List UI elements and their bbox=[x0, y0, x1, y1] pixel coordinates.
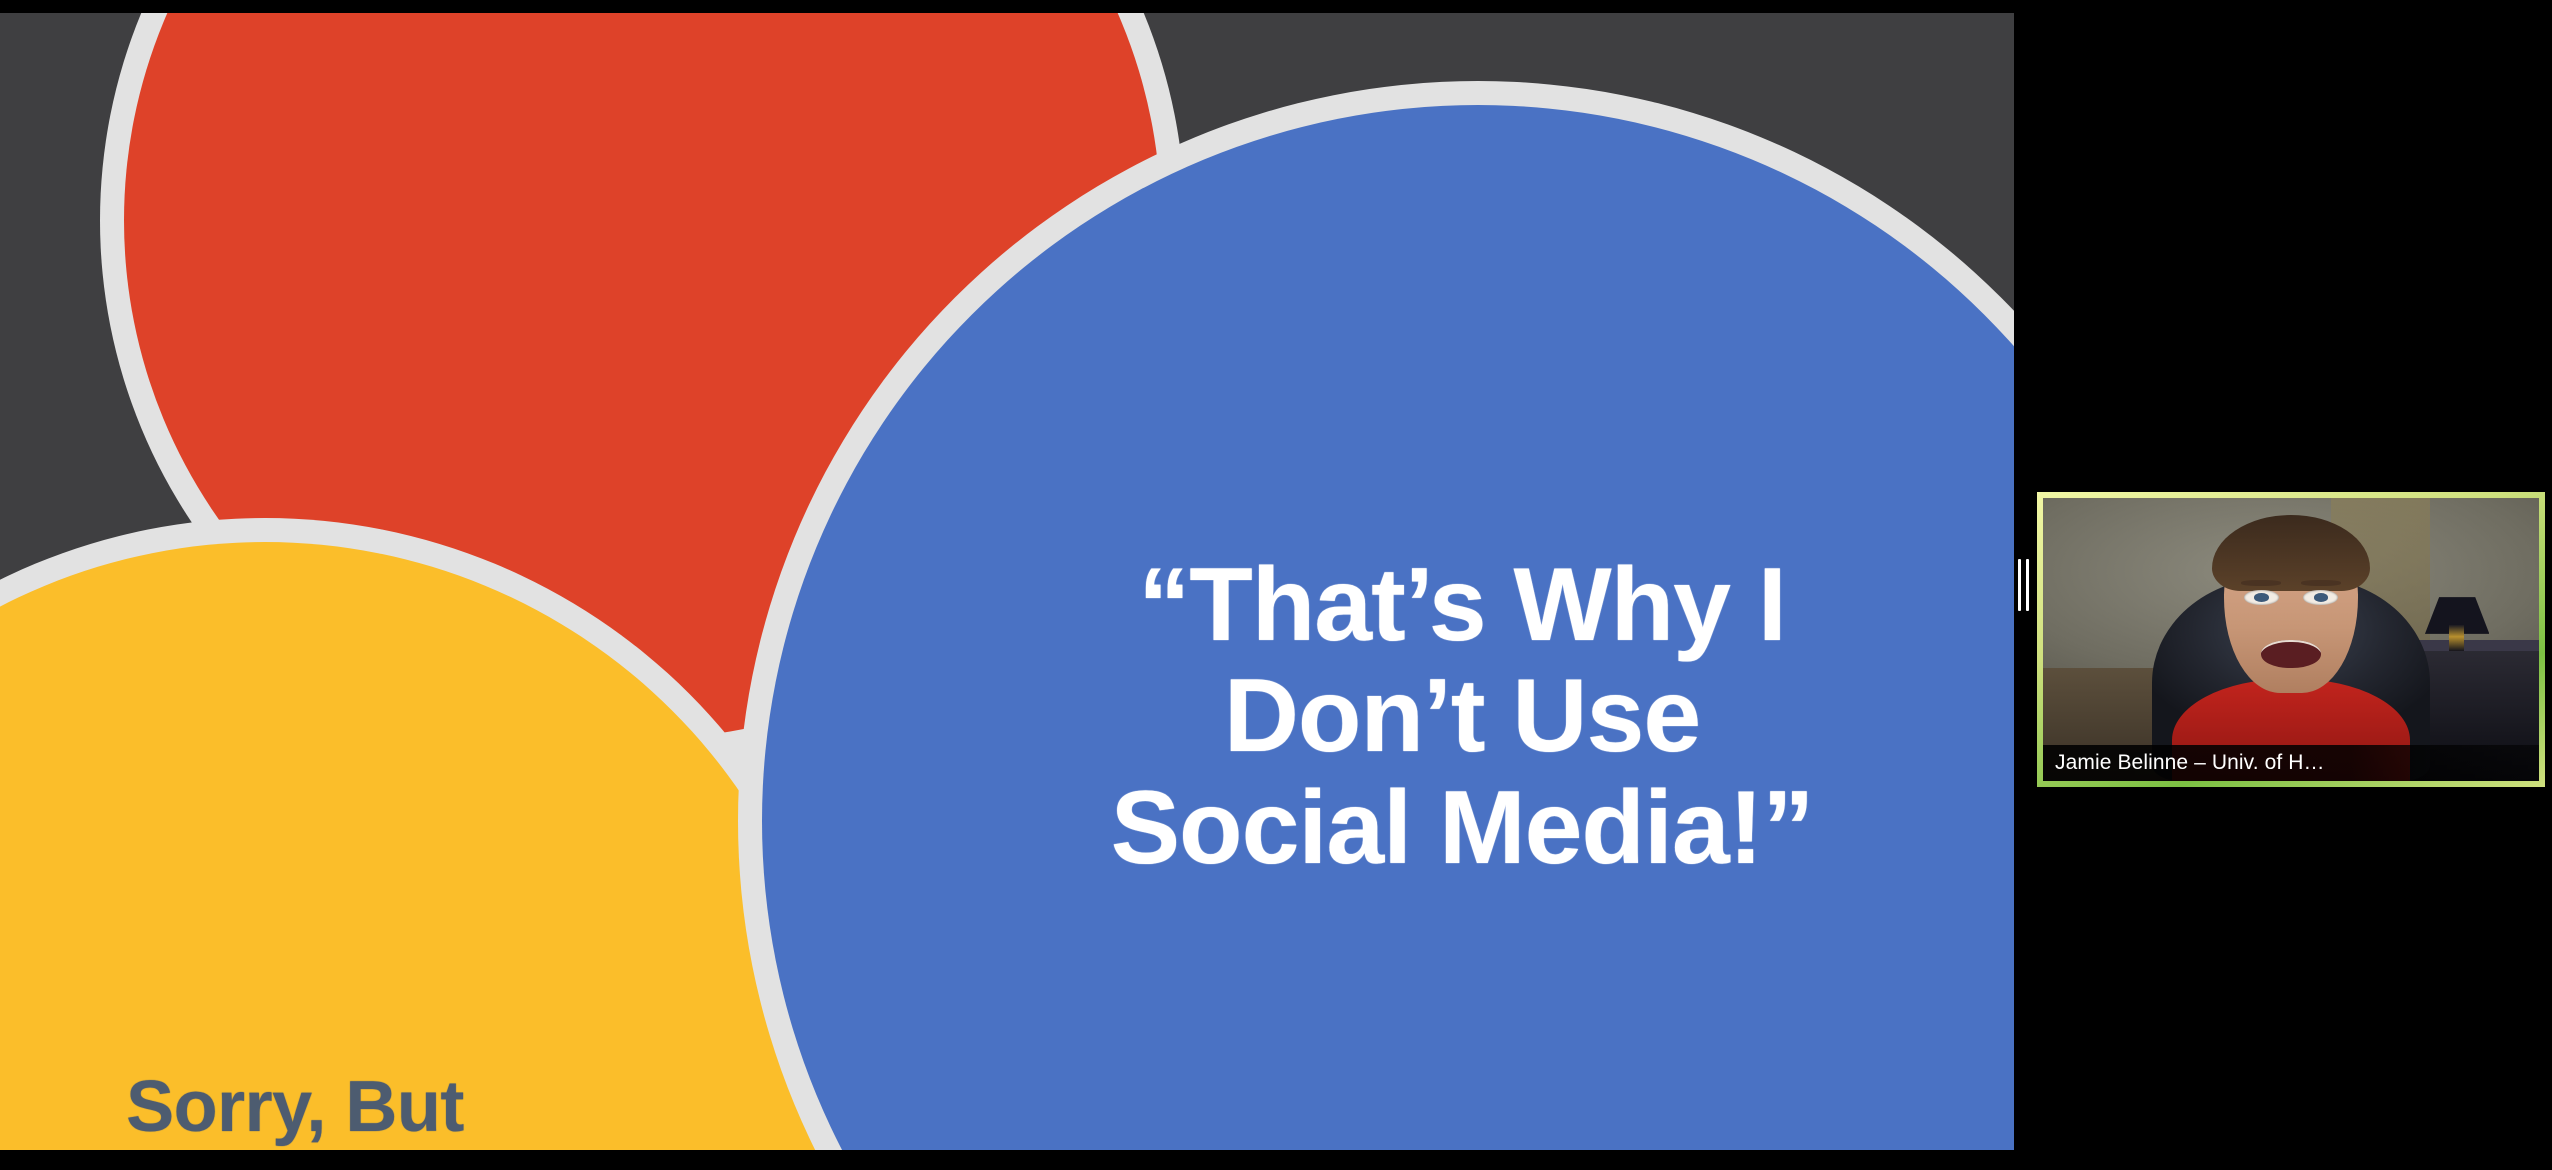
drag-handle-bar-left bbox=[2018, 559, 2021, 611]
yellow-circle-text: Sorry, But You’re Still Not Safe! bbox=[0, 1069, 605, 1150]
blue-circle-line-3: Social Media!” bbox=[1047, 773, 1877, 884]
person-eye-right bbox=[2303, 590, 2338, 605]
blue-circle-line-1: “That’s Why I bbox=[1047, 550, 1877, 661]
person-brow-right bbox=[2301, 580, 2341, 586]
participant-video-tile[interactable]: Jamie Belinne – Univ. of H… bbox=[2037, 492, 2545, 787]
pupil-right bbox=[2314, 593, 2329, 602]
video-frame: Jamie Belinne – Univ. of H… bbox=[2043, 498, 2539, 781]
lamp-base bbox=[2449, 625, 2464, 650]
shared-slide-viewport[interactable]: Sorry, But You’re Still Not Safe! “That’… bbox=[0, 13, 2014, 1150]
meeting-screen-share-view: Sorry, But You’re Still Not Safe! “That’… bbox=[0, 0, 2552, 1170]
blue-circle-text: “That’s Why I Don’t Use Social Media!” bbox=[1047, 550, 1877, 884]
participant-name-strip: Jamie Belinne – Univ. of H… bbox=[2043, 745, 2539, 781]
pupil-left bbox=[2254, 593, 2269, 602]
drag-handle-icon[interactable] bbox=[2014, 552, 2032, 618]
webcam-scene bbox=[2043, 498, 2539, 781]
yellow-circle-line-2: You’re Still Not bbox=[0, 1147, 605, 1150]
blue-circle-line-2: Don’t Use bbox=[1047, 661, 1877, 772]
yellow-circle-line-1: Sorry, But bbox=[0, 1069, 605, 1147]
drag-handle-bar-right bbox=[2026, 559, 2029, 611]
person-brow-left bbox=[2241, 580, 2281, 586]
participant-name-label: Jamie Belinne – Univ. of H… bbox=[2055, 751, 2325, 775]
person-eye-left bbox=[2244, 590, 2279, 605]
person-mouth bbox=[2261, 640, 2321, 668]
